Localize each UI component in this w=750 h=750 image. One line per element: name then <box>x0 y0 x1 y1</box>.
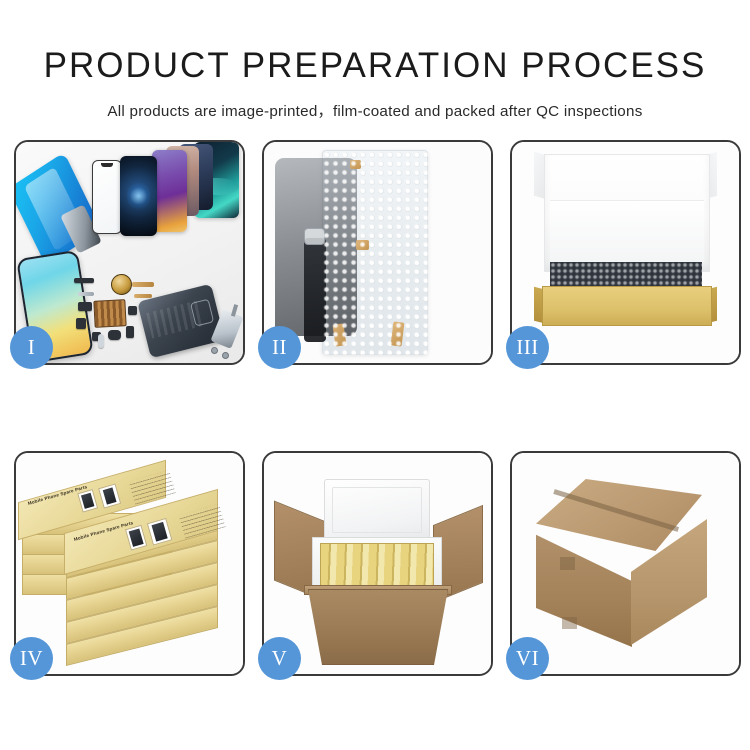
cardboard-carton-icon <box>308 589 448 665</box>
screws-icon <box>212 347 234 359</box>
step-card-1[interactable]: I <box>14 140 245 365</box>
tape-piece-icon <box>356 240 369 250</box>
flex-cable-icon <box>304 238 326 342</box>
step-badge-1: I <box>10 326 53 369</box>
white-foam-lid-icon <box>324 479 430 541</box>
carton-left-face-icon <box>536 525 632 647</box>
tape-patch-lower-icon <box>562 617 577 629</box>
step-card-3[interactable]: III <box>510 140 741 365</box>
small-chip-icon <box>108 330 121 340</box>
step-badge-5: V <box>258 637 301 680</box>
copper-coil-icon <box>111 274 132 295</box>
step-badge-3: III <box>506 326 549 369</box>
product-preparation-infographic: PRODUCT PREPARATION PROCESS All products… <box>0 0 750 750</box>
step-6-image <box>512 453 739 674</box>
step-badge-2: II <box>258 326 301 369</box>
driver-chip-icon <box>304 228 325 245</box>
flex-cable-icon <box>134 294 152 298</box>
process-step-grid: I II <box>14 140 740 680</box>
phone-display-purple-icon <box>152 150 187 232</box>
step-2-image <box>264 142 491 363</box>
small-chip-icon <box>126 326 134 338</box>
header: PRODUCT PREPARATION PROCESS All products… <box>0 0 750 121</box>
white-foam-liner-icon <box>550 200 704 262</box>
flex-cable-icon <box>78 292 94 296</box>
step-card-5[interactable]: V <box>262 451 493 676</box>
phone-display-dark-icon <box>120 156 157 236</box>
dark-bubble-wrap-fill-icon <box>550 262 702 288</box>
page-title: PRODUCT PREPARATION PROCESS <box>0 0 750 83</box>
yellow-kraft-tray-icon <box>542 286 712 326</box>
step-3-image <box>512 142 739 363</box>
tape-patch-upper-icon <box>560 557 575 570</box>
pcb-board-icon <box>93 299 126 328</box>
step-badge-6: VI <box>506 637 549 680</box>
step-1-image <box>16 142 243 363</box>
step-card-4[interactable]: Mobile Phone Spare Parts Mobile Phone Sp… <box>14 451 245 676</box>
step-badge-4: IV <box>10 637 53 680</box>
small-chip-icon <box>74 278 94 283</box>
small-chip-icon <box>78 302 92 311</box>
step-5-image <box>264 453 491 674</box>
step-4-image: Mobile Phone Spare Parts Mobile Phone Sp… <box>16 453 243 674</box>
stacked-kraft-boxes-icon: Mobile Phone Spare Parts Mobile Phone Sp… <box>16 453 243 674</box>
tape-piece-icon <box>350 160 361 169</box>
yellow-boxes-rows-icon <box>320 543 434 587</box>
flexible-oled-panel-icon <box>16 152 102 266</box>
step-card-6[interactable]: VI <box>510 451 741 676</box>
flex-cable-icon <box>132 282 154 287</box>
sim-tray-icon <box>98 334 104 348</box>
tempered-glass-screen-icon <box>92 160 122 234</box>
page-subtitle: All products are image-printed，film-coat… <box>0 83 750 121</box>
small-chip-icon <box>76 318 86 329</box>
small-chip-icon <box>128 306 137 315</box>
step-card-2[interactable]: II <box>262 140 493 365</box>
